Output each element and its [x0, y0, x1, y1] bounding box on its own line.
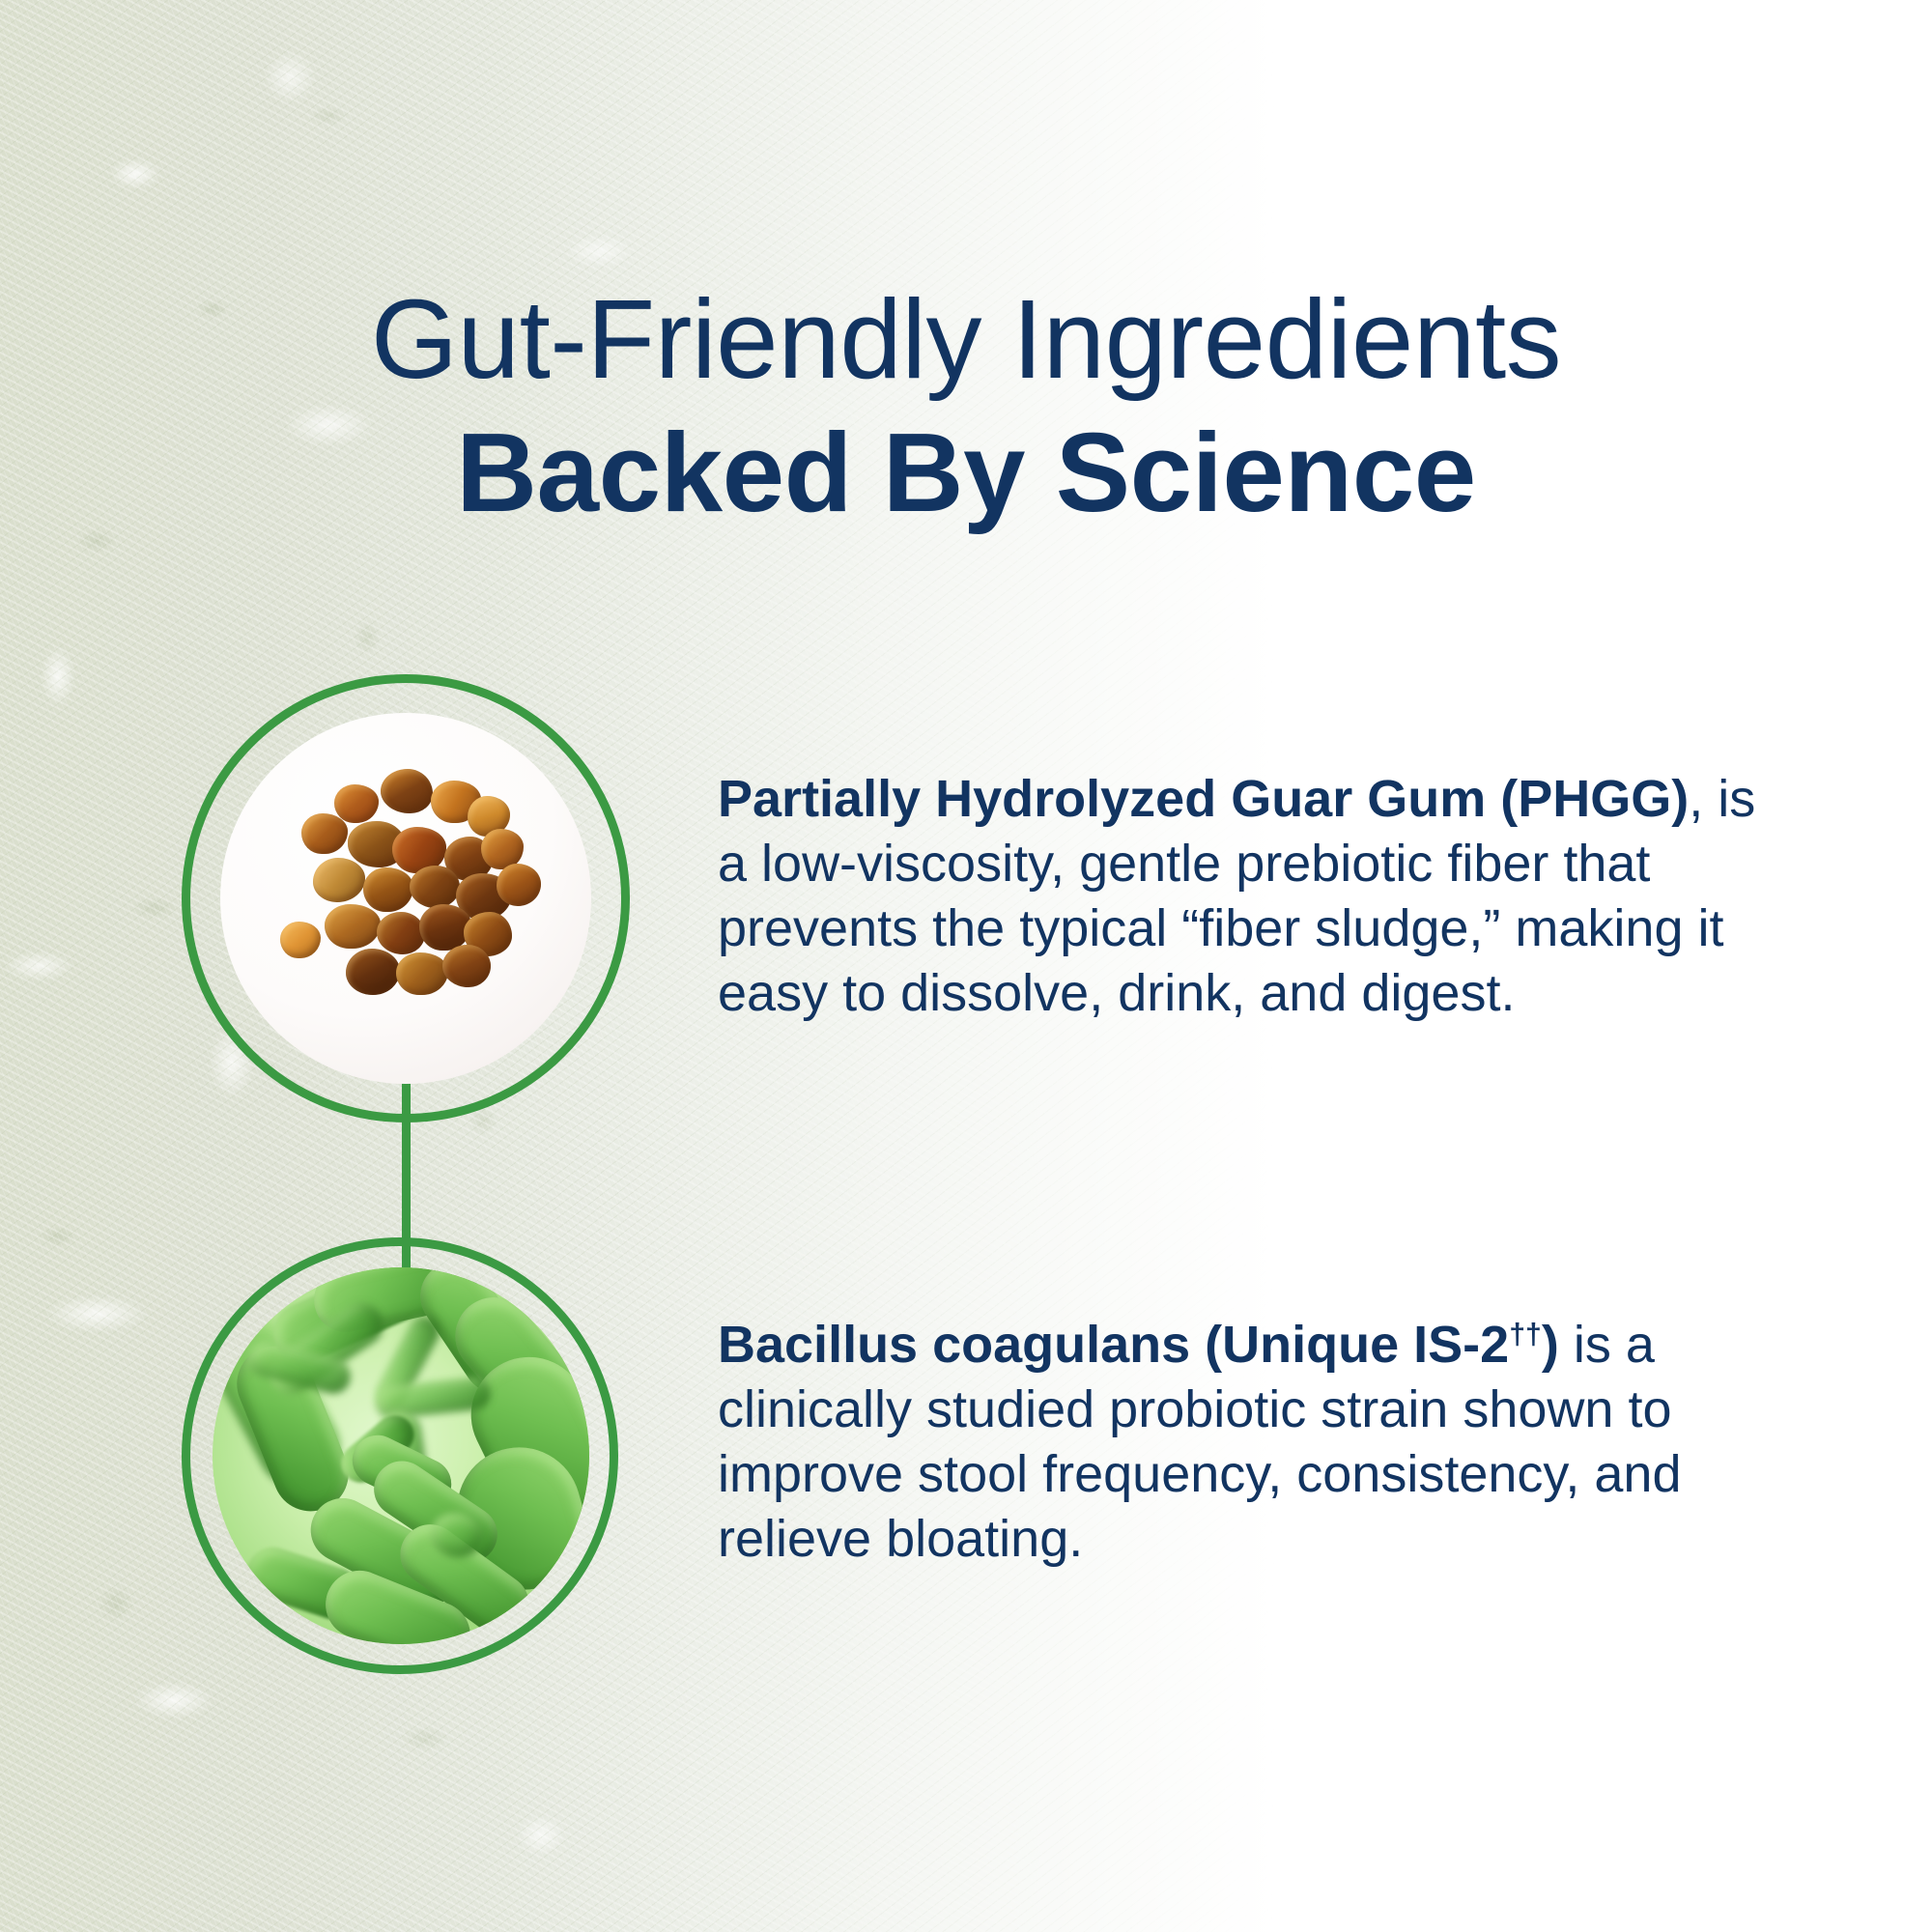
bacillus-description: Bacillus coagulans (Unique IS-2††) is a …: [718, 1313, 1780, 1572]
bacillus-name-tail: ): [1542, 1316, 1559, 1374]
page-title-line-1: Gut-Friendly Ingredients: [0, 283, 1932, 395]
bacillus-double-dagger-superscript: ††: [1509, 1319, 1542, 1350]
phgg-callout-ring: [182, 674, 630, 1122]
bacillus-name-lead: Bacillus coagulans (Unique IS-2: [718, 1316, 1509, 1374]
phgg-name-primary: Partially Hydrolyzed Guar Gum: [718, 770, 1486, 828]
phgg-description: Partially Hydrolyzed Guar Gum (PHGG), is…: [718, 767, 1780, 1026]
phgg-name-abbrev: (PHGG): [1500, 770, 1689, 828]
ingredient-infographic: Gut-Friendly Ingredients Backed By Scien…: [0, 0, 1932, 1932]
bacillus-callout-ring: [182, 1237, 618, 1674]
page-title-line-2: Backed By Science: [0, 416, 1932, 528]
page-title: Gut-Friendly Ingredients Backed By Scien…: [0, 283, 1932, 528]
